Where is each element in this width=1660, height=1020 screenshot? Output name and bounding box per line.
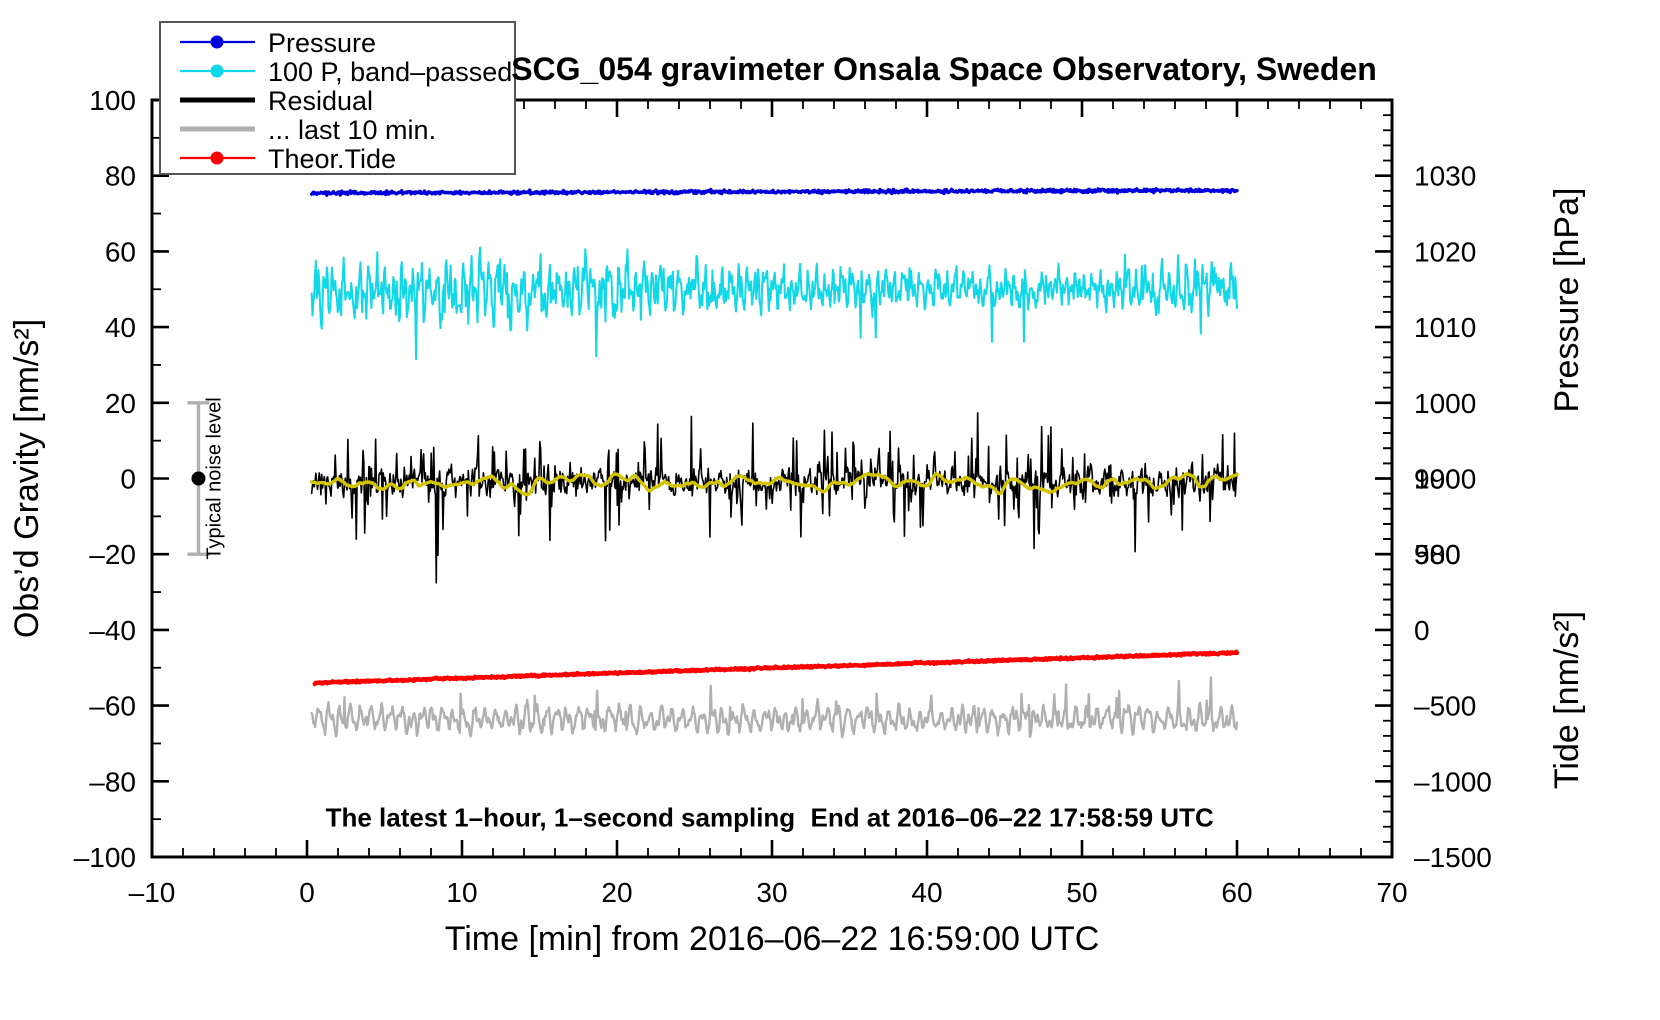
legend-label: Residual	[268, 86, 373, 116]
pressure-tick-label: 1010	[1414, 312, 1476, 343]
x-tick-label: –10	[129, 877, 176, 908]
pressure-tick-label: 1000	[1414, 388, 1476, 419]
y-tick-label: 20	[105, 388, 136, 419]
legend-label: Theor.Tide	[268, 144, 396, 174]
x-tick-label: 60	[1221, 877, 1252, 908]
legend-label: ... last 10 min.	[268, 115, 436, 145]
y-tick-label: –20	[89, 539, 136, 570]
chart-page: Typical noise level –10010203040506070 –…	[0, 0, 1660, 1020]
y-axis-title-tide: Tide [nm/s²]	[1548, 611, 1586, 789]
noise-marker-label: Typical noise level	[204, 397, 226, 559]
x-axis-title: Time [min] from 2016–06–22 16:59:00 UTC	[445, 920, 1100, 958]
y-tick-label: –80	[89, 766, 136, 797]
legend-marker-circle	[211, 152, 224, 165]
tide-tick-label: –1000	[1414, 766, 1492, 797]
x-tick-label: 70	[1376, 877, 1407, 908]
x-tick-label: 20	[601, 877, 632, 908]
y-tick-label: 40	[105, 312, 136, 343]
tide-tick-label: –500	[1414, 691, 1476, 722]
y-tick-label: 100	[89, 85, 136, 116]
y-tick-label: 80	[105, 161, 136, 192]
legend-marker-circle	[211, 36, 224, 49]
y-tick-label: 0	[120, 464, 136, 495]
legend-label: 100 P, band–passed	[268, 57, 512, 87]
x-tick-label: 10	[446, 877, 477, 908]
tide-tick-label: 500	[1414, 539, 1461, 570]
y-tick-label: –60	[89, 691, 136, 722]
y-axis-title-left: Obs’d Gravity [nm/s²]	[8, 319, 46, 638]
gravimeter-chart: Typical noise level –10010203040506070 –…	[0, 0, 1660, 1020]
y-tick-label: –100	[74, 842, 136, 873]
y-tick-label: –40	[89, 615, 136, 646]
y-axis-title-pressure: Pressure [hPa]	[1548, 188, 1586, 413]
x-tick-label: 0	[299, 877, 315, 908]
tide-tick-label: –1500	[1414, 842, 1492, 873]
legend-label: Pressure	[268, 28, 376, 58]
bottom-left-note: The latest 1–hour, 1–second sampling	[326, 803, 796, 833]
y-tick-label: 60	[105, 236, 136, 267]
x-tick-label: 30	[756, 877, 787, 908]
legend-marker-circle	[211, 65, 224, 78]
bottom-right-note: End at 2016–06–22 17:58:59 UTC	[811, 803, 1214, 833]
tide-tick-label: 0	[1414, 615, 1430, 646]
x-tick-label: 50	[1066, 877, 1097, 908]
plot-annotations: The latest 1–hour, 1–second samplingEnd …	[326, 803, 1214, 833]
tide-tick-label: 1000	[1414, 464, 1476, 495]
chart-title: SCG_054 gravimeter Onsala Space Observat…	[511, 51, 1377, 87]
chart-legend: Pressure100 P, band–passedResidual... la…	[160, 22, 515, 174]
x-tick-label: 40	[911, 877, 942, 908]
pressure-tick-label: 1020	[1414, 236, 1476, 267]
pressure-tick-label: 1030	[1414, 161, 1476, 192]
